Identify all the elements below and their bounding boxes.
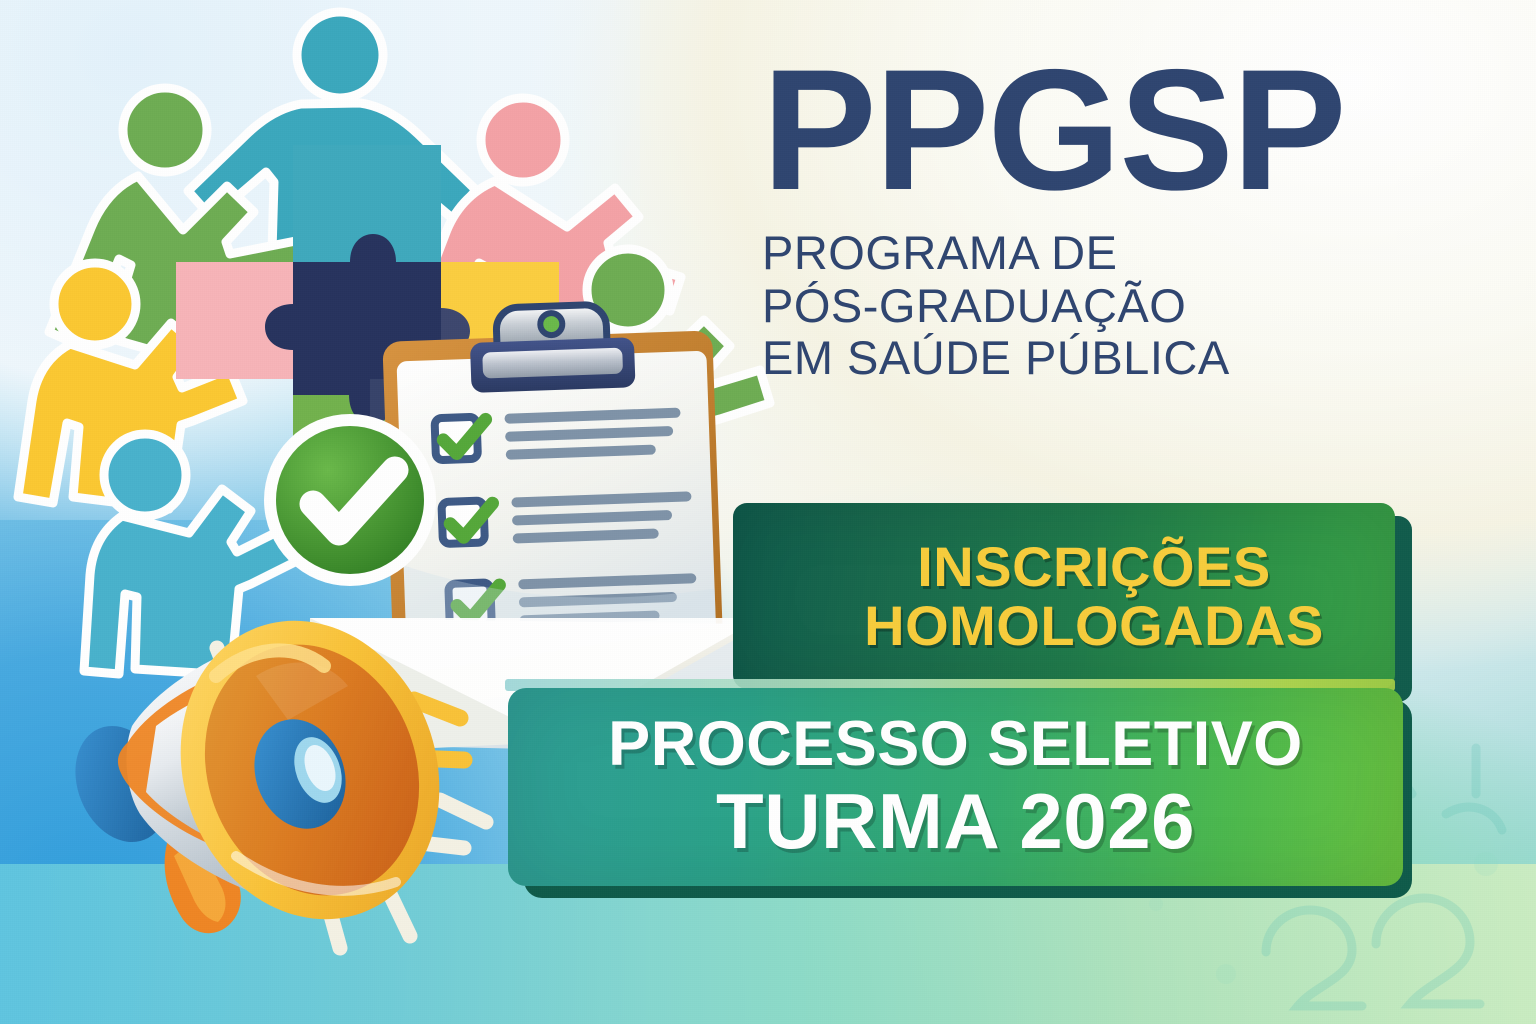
program-subtitle: PROGRAMA DE PÓS-GRADUAÇÃO EM SAÚDE PÚBLI… <box>762 227 1482 385</box>
poster-canvas: PPGSP PROGRAMA DE PÓS-GRADUAÇÃO EM SAÚDE… <box>0 0 1536 1024</box>
process-line-1: PROCESSO SELETIVO <box>608 712 1303 776</box>
subtitle-line-3: EM SAÚDE PÚBLICA <box>762 332 1482 385</box>
page-title: PPGSP <box>762 48 1482 213</box>
subtitle-line-1: PROGRAMA DE <box>762 227 1482 280</box>
status-line-1: INSCRIÇÕES <box>864 537 1324 596</box>
status-badge: INSCRIÇÕES HOMOLOGADAS <box>733 503 1395 689</box>
check-circle-icon <box>264 414 436 586</box>
subtitle-line-2: PÓS-GRADUAÇÃO <box>762 280 1482 333</box>
status-line-2: HOMOLOGADAS <box>864 596 1324 655</box>
process-line-2: TURMA 2026 <box>716 781 1195 862</box>
brand-block: PPGSP PROGRAMA DE PÓS-GRADUAÇÃO EM SAÚDE… <box>762 48 1482 385</box>
process-banner: PROCESSO SELETIVO TURMA 2026 <box>508 688 1403 886</box>
